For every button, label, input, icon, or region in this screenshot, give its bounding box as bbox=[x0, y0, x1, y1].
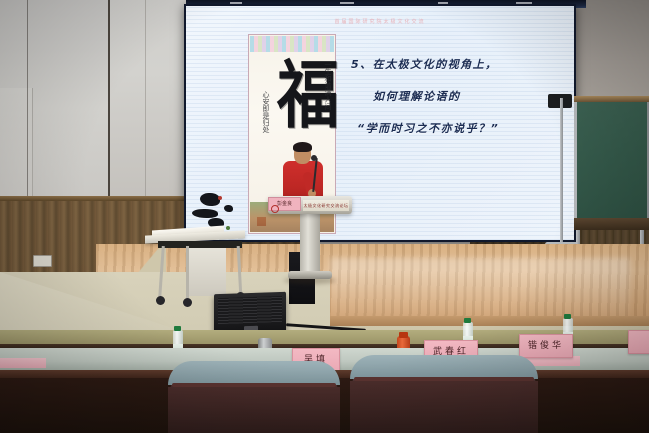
ink-splash bbox=[192, 209, 218, 218]
cart-leg bbox=[186, 246, 189, 300]
name-card: 锴俊华 bbox=[519, 334, 573, 358]
ink-accent-red bbox=[218, 196, 222, 200]
chalk-tray bbox=[574, 218, 649, 230]
green-chalkboard bbox=[574, 102, 649, 218]
rolling-cart-underframe bbox=[158, 241, 242, 248]
chair-backrest-top bbox=[350, 355, 538, 379]
wall-seam-secondary bbox=[145, 0, 146, 205]
rolling-cart-panel bbox=[188, 248, 226, 296]
slide-line-1: 5、在太极文化的视角上， bbox=[351, 58, 565, 71]
slide-line-2: 如何理解论语的 bbox=[373, 90, 565, 103]
name-card bbox=[628, 330, 649, 354]
chair-back-lower bbox=[168, 387, 340, 433]
slide-question-text: 5、在太极文化的视角上， 如何理解论语的 “学而时习之不亦说乎？” bbox=[351, 58, 565, 135]
name-card-text: 锴俊华 bbox=[520, 335, 572, 357]
right-wall-panel bbox=[566, 0, 649, 104]
caster-wheel bbox=[156, 296, 165, 305]
projector-stand-pole bbox=[560, 98, 563, 246]
speaker-hair bbox=[293, 142, 312, 152]
slide-header-text: 首届国际研究院太极文化交流 bbox=[186, 18, 574, 25]
caster-wheel bbox=[183, 298, 192, 307]
chair-back-lower bbox=[350, 381, 538, 433]
audience-chair[interactable] bbox=[350, 355, 538, 433]
left-wall-panel-secondary bbox=[0, 88, 33, 201]
bottle-cap bbox=[564, 314, 571, 319]
podium-banner: 太极文化研究交流论坛 bbox=[303, 200, 349, 211]
microphone-head-icon bbox=[311, 155, 317, 161]
name-card-base bbox=[0, 358, 46, 368]
podium-seal-icon bbox=[271, 205, 279, 213]
scroll-decorative-border bbox=[250, 36, 334, 52]
ink-splash bbox=[200, 193, 220, 206]
ink-accent-green bbox=[226, 226, 230, 230]
wall-outlet[interactable] bbox=[33, 255, 52, 267]
podium-column bbox=[300, 213, 320, 273]
chair-backrest-top bbox=[168, 361, 340, 385]
slide-line-3: “学而时习之不亦说乎？” bbox=[357, 122, 565, 135]
speaker-grill bbox=[218, 296, 282, 324]
bottle-cap bbox=[464, 318, 471, 323]
lecture-hall-photo: 首届国际研究院太极文化交流 福 心安即是归处 一生和谐满人间 5、在太极文化的视… bbox=[0, 0, 649, 433]
projection-screen-frame: 首届国际研究院太极文化交流 福 心安即是归处 一生和谐满人间 5、在太极文化的视… bbox=[184, 4, 576, 242]
chalkboard-unit bbox=[574, 96, 649, 256]
ink-splash bbox=[224, 205, 233, 212]
podium-base bbox=[288, 271, 332, 279]
bottle-cap bbox=[399, 332, 408, 338]
bottle-cap bbox=[174, 326, 181, 331]
audience-chair[interactable] bbox=[168, 361, 340, 433]
podium-banner-text: 太极文化研究交流论坛 bbox=[303, 200, 349, 211]
back-wall-mid-panel bbox=[108, 0, 192, 208]
projection-screen: 首届国际研究院太极文化交流 福 心安即是归处 一生和谐满人间 5、在太极文化的视… bbox=[186, 6, 574, 240]
